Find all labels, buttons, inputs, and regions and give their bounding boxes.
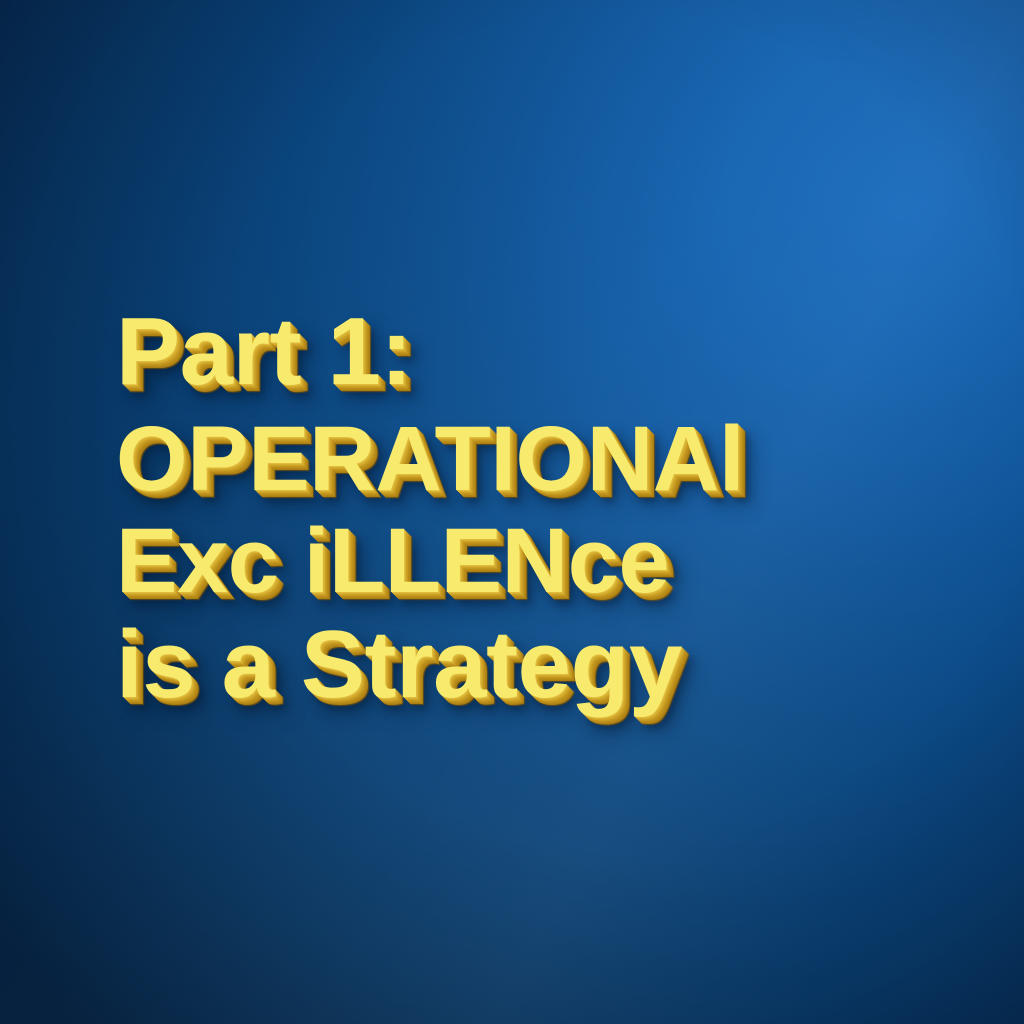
- headline-line-topic-two: Exc iLLENce: [116, 518, 976, 606]
- headline-line-topic-one: OPERATIONAl: [116, 416, 976, 504]
- headline-line-part-label: Part 1:: [116, 306, 976, 398]
- title-slide: Part 1: OPERATIONAl Exc iLLENce is a Str…: [0, 0, 1024, 1024]
- headline-block: Part 1: OPERATIONAl Exc iLLENce is a Str…: [116, 306, 976, 711]
- headline-line-predicate: is a Strategy: [116, 619, 976, 711]
